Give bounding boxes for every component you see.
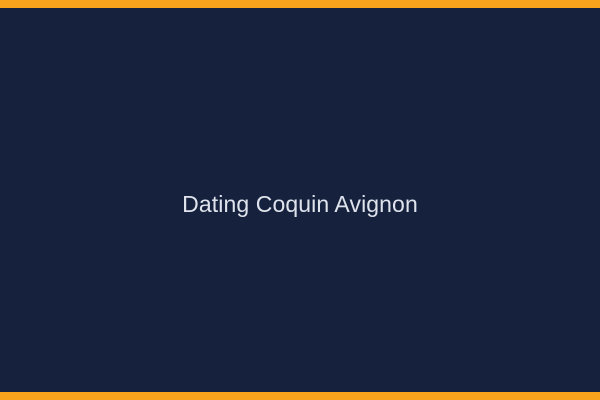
banner-content-area: Dating Coquin Avignon: [0, 8, 600, 392]
banner-title: Dating Coquin Avignon: [0, 190, 600, 218]
bottom-accent-bar: [0, 392, 600, 400]
placeholder-banner: Dating Coquin Avignon: [0, 0, 600, 400]
top-accent-bar: [0, 0, 600, 8]
